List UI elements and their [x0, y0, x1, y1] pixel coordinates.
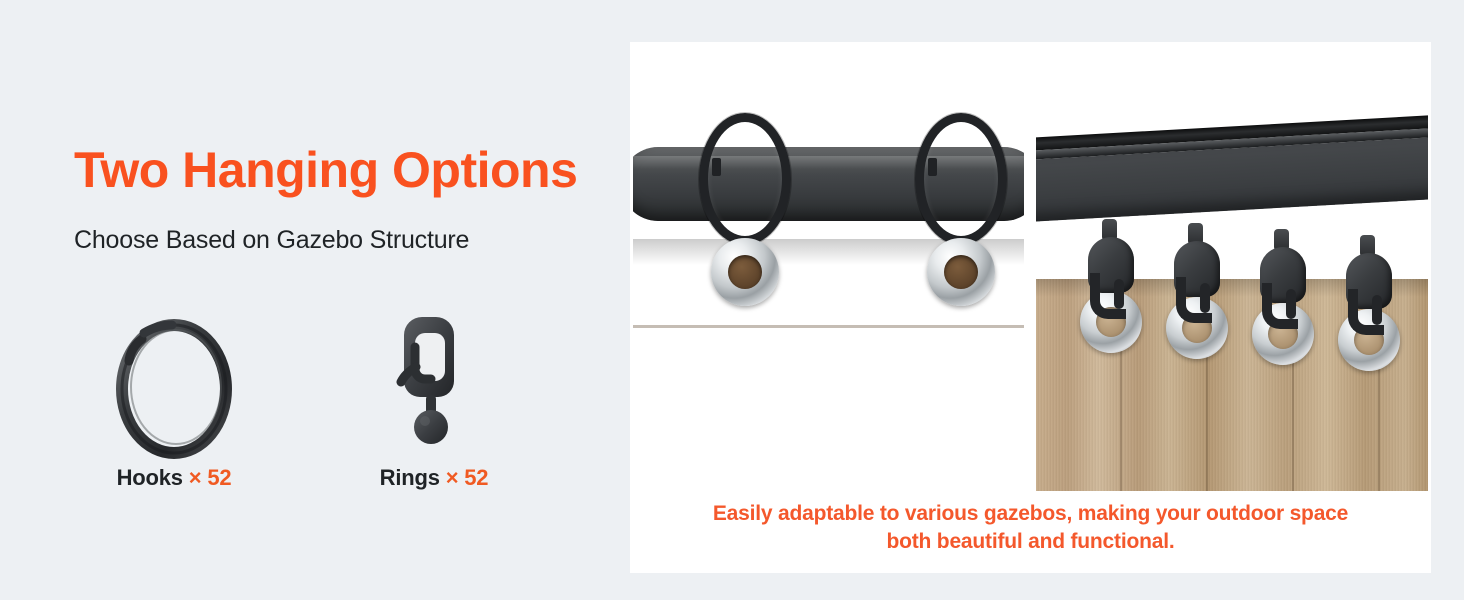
- curtain-grommet: [711, 238, 779, 306]
- page-subtitle: Choose Based on Gazebo Structure: [74, 228, 469, 253]
- curtain-hook-clip-icon: [334, 300, 534, 465]
- curtain-hook: [1346, 235, 1392, 343]
- hardware-option-count: × 52: [446, 465, 489, 490]
- hooks-on-rail-photo: [1036, 43, 1428, 491]
- caption-line-2: both beautiful and functional.: [630, 528, 1431, 556]
- curtain-hook: [1174, 223, 1220, 331]
- page-title: Two Hanging Options: [74, 145, 577, 195]
- product-photo-card: Easily adaptable to various gazebos, mak…: [630, 42, 1431, 573]
- hardware-option-name: Rings: [380, 465, 440, 490]
- curtain-hook: [1260, 229, 1306, 337]
- hardware-option-count: × 52: [189, 465, 232, 490]
- hook-tip: [1114, 279, 1124, 309]
- curtain-ring: [915, 113, 1007, 245]
- hardware-option-label: Hooks × 52: [74, 465, 274, 491]
- rings-on-round-pole-photo: [633, 43, 1024, 491]
- hook-tip: [1200, 283, 1210, 313]
- hardware-option-rings: Rings × 52: [334, 300, 534, 530]
- ring-clasp: [712, 158, 721, 176]
- hook-tip: [1286, 289, 1296, 319]
- photo-pair: [633, 43, 1428, 491]
- curtain-ring: [699, 113, 791, 245]
- hardware-options-row: Hooks × 52: [74, 300, 554, 530]
- curtain-hook: [1088, 219, 1134, 327]
- curtain-grommet: [927, 238, 995, 306]
- left-text-column: Two Hanging Options Choose Based on Gaze…: [0, 0, 630, 600]
- photo-caption: Easily adaptable to various gazebos, mak…: [630, 500, 1431, 555]
- hardware-option-name: Hooks: [117, 465, 183, 490]
- hardware-option-hooks: Hooks × 52: [74, 300, 274, 530]
- caption-line-1: Easily adaptable to various gazebos, mak…: [630, 500, 1431, 528]
- hardware-option-label: Rings × 52: [334, 465, 534, 491]
- curtain-ring-icon: [74, 300, 274, 465]
- hook-tip: [1372, 295, 1382, 325]
- ring-clasp: [928, 158, 937, 176]
